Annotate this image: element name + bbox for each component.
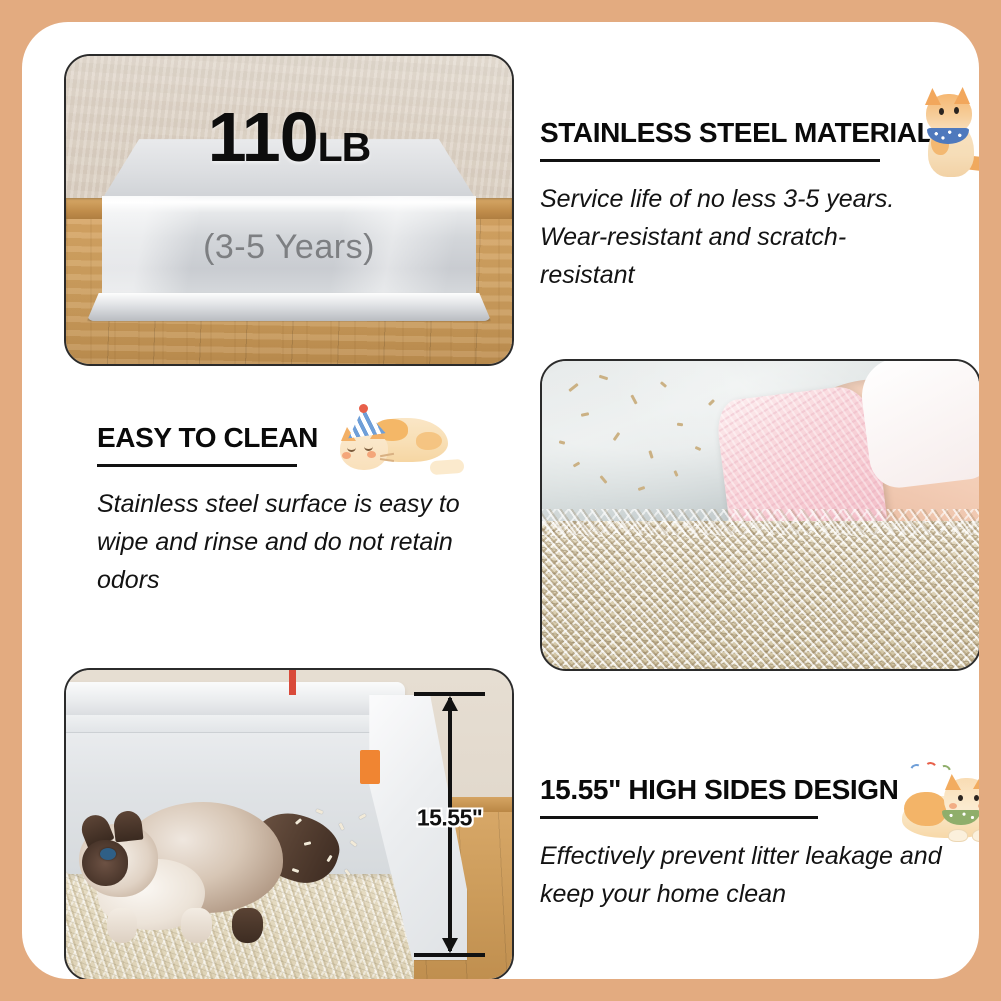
sleeping-cat-with-party-hat-icon [334, 410, 460, 478]
infographic-page: 110LB (3-5 Years) STAINLESS STEEL MATERI… [0, 0, 1001, 1001]
cat-eye-right [954, 107, 959, 114]
weight-number: 110 [208, 98, 318, 176]
cat-cheek-right [978, 803, 979, 809]
feature-body-clean: Stainless steel surface is easy to wipe … [97, 485, 487, 599]
dimension-value-label: 15.55" [417, 805, 482, 832]
confetti-red [923, 761, 938, 776]
confetti-blue [908, 762, 925, 779]
feature-high-sides-design: 15.55" HIGH SIDES DESIGN Effectively pre… [540, 774, 960, 913]
cat-paw-right [972, 829, 979, 842]
cat-cheek-right [367, 451, 376, 458]
cat-leg-rear [232, 908, 262, 943]
cat-cheek-left [342, 452, 351, 459]
cat-eye-right [974, 795, 979, 801]
easy-to-clean-photo [540, 359, 979, 671]
feature-heading-sides: 15.55" HIGH SIDES DESIGN [540, 774, 960, 806]
cat-cheek-left [949, 803, 957, 809]
cat-tail [430, 459, 465, 475]
white-content-card: 110LB (3-5 Years) STAINLESS STEEL MATERI… [22, 22, 979, 979]
box-top-rail [66, 682, 405, 716]
weight-capacity-label: 110LB [66, 105, 512, 169]
pan-rim-lip [87, 293, 492, 322]
heading-underline [540, 159, 880, 162]
cat-leg-middle [181, 908, 211, 943]
cat-face-mask [82, 840, 128, 886]
dimension-arrowhead-up [442, 696, 458, 711]
party-hat-pompom [359, 404, 368, 413]
cat-rump [904, 792, 946, 826]
cat-ear-right [113, 810, 144, 843]
feature-body-sides: Effectively prevent litter leakage and k… [540, 837, 960, 913]
ragdoll-cat [79, 794, 311, 930]
feature-heading-material: STAINLESS STEEL MATERIAL [540, 117, 940, 149]
red-clip-marker [289, 668, 296, 695]
cat-leg-front [107, 908, 137, 943]
feature-stainless-steel-material: STAINLESS STEEL MATERIAL Service life of… [540, 117, 940, 294]
feature-body-material: Service life of no less 3-5 years. Wear-… [540, 180, 940, 294]
weight-unit: LB [318, 124, 371, 170]
cat-fur-patch-2 [416, 432, 442, 450]
lifespan-caption: (3-5 Years) [66, 228, 512, 267]
orange-latch-tab [360, 750, 380, 784]
weight-capacity-photo: 110LB (3-5 Years) [64, 54, 514, 366]
cloth-white-hem [858, 359, 979, 491]
dimension-arrowhead-down [442, 938, 458, 953]
dimension-cap-bottom [414, 953, 485, 957]
cat-eye-left [958, 795, 963, 801]
box-second-rail [66, 715, 405, 733]
high-sides-design-photo: 15.55" [64, 668, 514, 979]
heading-underline [540, 816, 818, 819]
lying-cat-with-green-bandana-icon [902, 762, 979, 858]
sitting-cat-with-blue-bandana-icon [910, 78, 979, 183]
tofu-litter-bed [542, 521, 979, 669]
flying-litter-particles [280, 800, 432, 924]
heading-underline [97, 464, 297, 467]
cat-eye-left [939, 108, 944, 115]
cat-paw-left [948, 829, 968, 842]
